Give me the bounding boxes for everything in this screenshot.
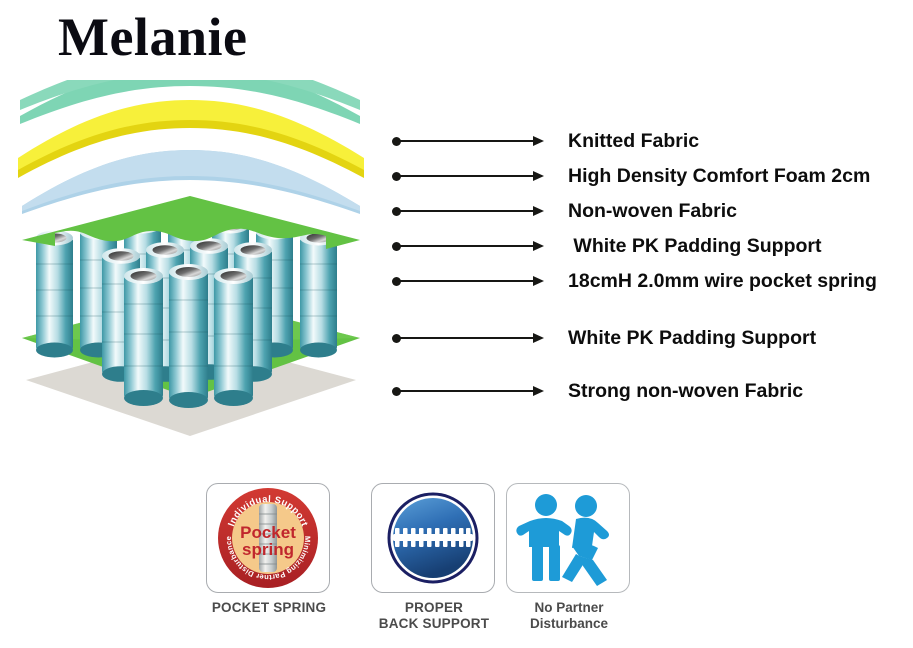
arrow-head-icon [533,333,544,343]
mattress-layers-svg [8,80,373,440]
badge-card: Individual Support Minimizing Partner Di… [206,483,330,593]
callout-label: 18cmH 2.0mm wire pocket spring [568,270,877,292]
arrow-shaft [398,245,535,247]
badge-caption: PROPER BACK SUPPORT [371,600,497,632]
badge-no-partner-disturbance: No Partner Disturbance [506,483,632,632]
callout-list: Knitted Fabric High Density Comfort Foam… [392,128,913,408]
bending-person-figure [562,495,609,586]
spring-coil [124,268,163,406]
arrow-shaft [398,280,535,282]
badge-caption: POCKET SPRING [206,600,332,616]
arrow-head-icon [533,136,544,146]
callout-arrow [392,240,544,252]
arrow-head-icon [533,276,544,286]
callout-white-pk-padding-top: White PK Padding Support [392,233,913,259]
callout-arrow [392,332,544,344]
arrow-head-icon [533,206,544,216]
callout-knitted-fabric: Knitted Fabric [392,128,913,154]
badge-caption-line2: Disturbance [506,616,632,632]
badge-caption-line1: No Partner [506,600,632,616]
badge-card [506,483,630,593]
callout-arrow [392,275,544,287]
callout-arrow [392,385,544,397]
arrow-head-icon [533,171,544,181]
callout-label: White PK Padding Support [568,235,821,257]
spring-coil [169,264,208,408]
callout-label: White PK Padding Support [568,327,816,349]
callout-comfort-foam: High Density Comfort Foam 2cm [392,163,913,189]
pocket-spring-seal-icon: Individual Support Minimizing Partner Di… [216,486,320,590]
arrow-shaft [398,390,535,392]
callout-strong-non-woven-fabric: Strong non-woven Fabric [392,378,913,404]
callout-arrow [392,170,544,182]
badge-caption-line2: BACK SUPPORT [371,616,497,632]
spring-coil [300,231,337,358]
badge-pocket-spring: Individual Support Minimizing Partner Di… [206,483,332,616]
page-title: Melanie [58,6,247,68]
mattress-layer-stack [8,80,373,440]
badge-caption-line1: PROPER [371,600,497,616]
callout-label: Knitted Fabric [568,130,699,152]
seal-center-line2: spring [242,540,294,559]
spring-coil [214,268,253,406]
arrow-shaft [398,337,535,339]
standing-person-figure [516,494,571,581]
badge-caption: No Partner Disturbance [506,600,632,632]
arrow-head-icon [533,386,544,396]
badge-card [371,483,495,593]
callout-arrow [392,135,544,147]
two-people-icon [516,488,620,588]
back-support-spine-icon [385,490,481,586]
arrow-shaft [398,175,535,177]
badge-proper-back-support: PROPER BACK SUPPORT [371,483,497,632]
callout-non-woven-fabric: Non-woven Fabric [392,198,913,224]
callout-white-pk-padding-bottom: White PK Padding Support [392,325,913,351]
callout-label: High Density Comfort Foam 2cm [568,165,870,187]
arrow-shaft [398,140,535,142]
feature-badge-row: Individual Support Minimizing Partner Di… [206,483,626,643]
arrow-head-icon [533,241,544,251]
callout-arrow [392,205,544,217]
arrow-shaft [398,210,535,212]
callout-label: Strong non-woven Fabric [568,380,803,402]
product-spec-page: Melanie [0,0,913,648]
callout-pocket-spring: 18cmH 2.0mm wire pocket spring [392,268,913,294]
spring-coil [36,231,73,358]
callout-label: Non-woven Fabric [568,200,737,222]
